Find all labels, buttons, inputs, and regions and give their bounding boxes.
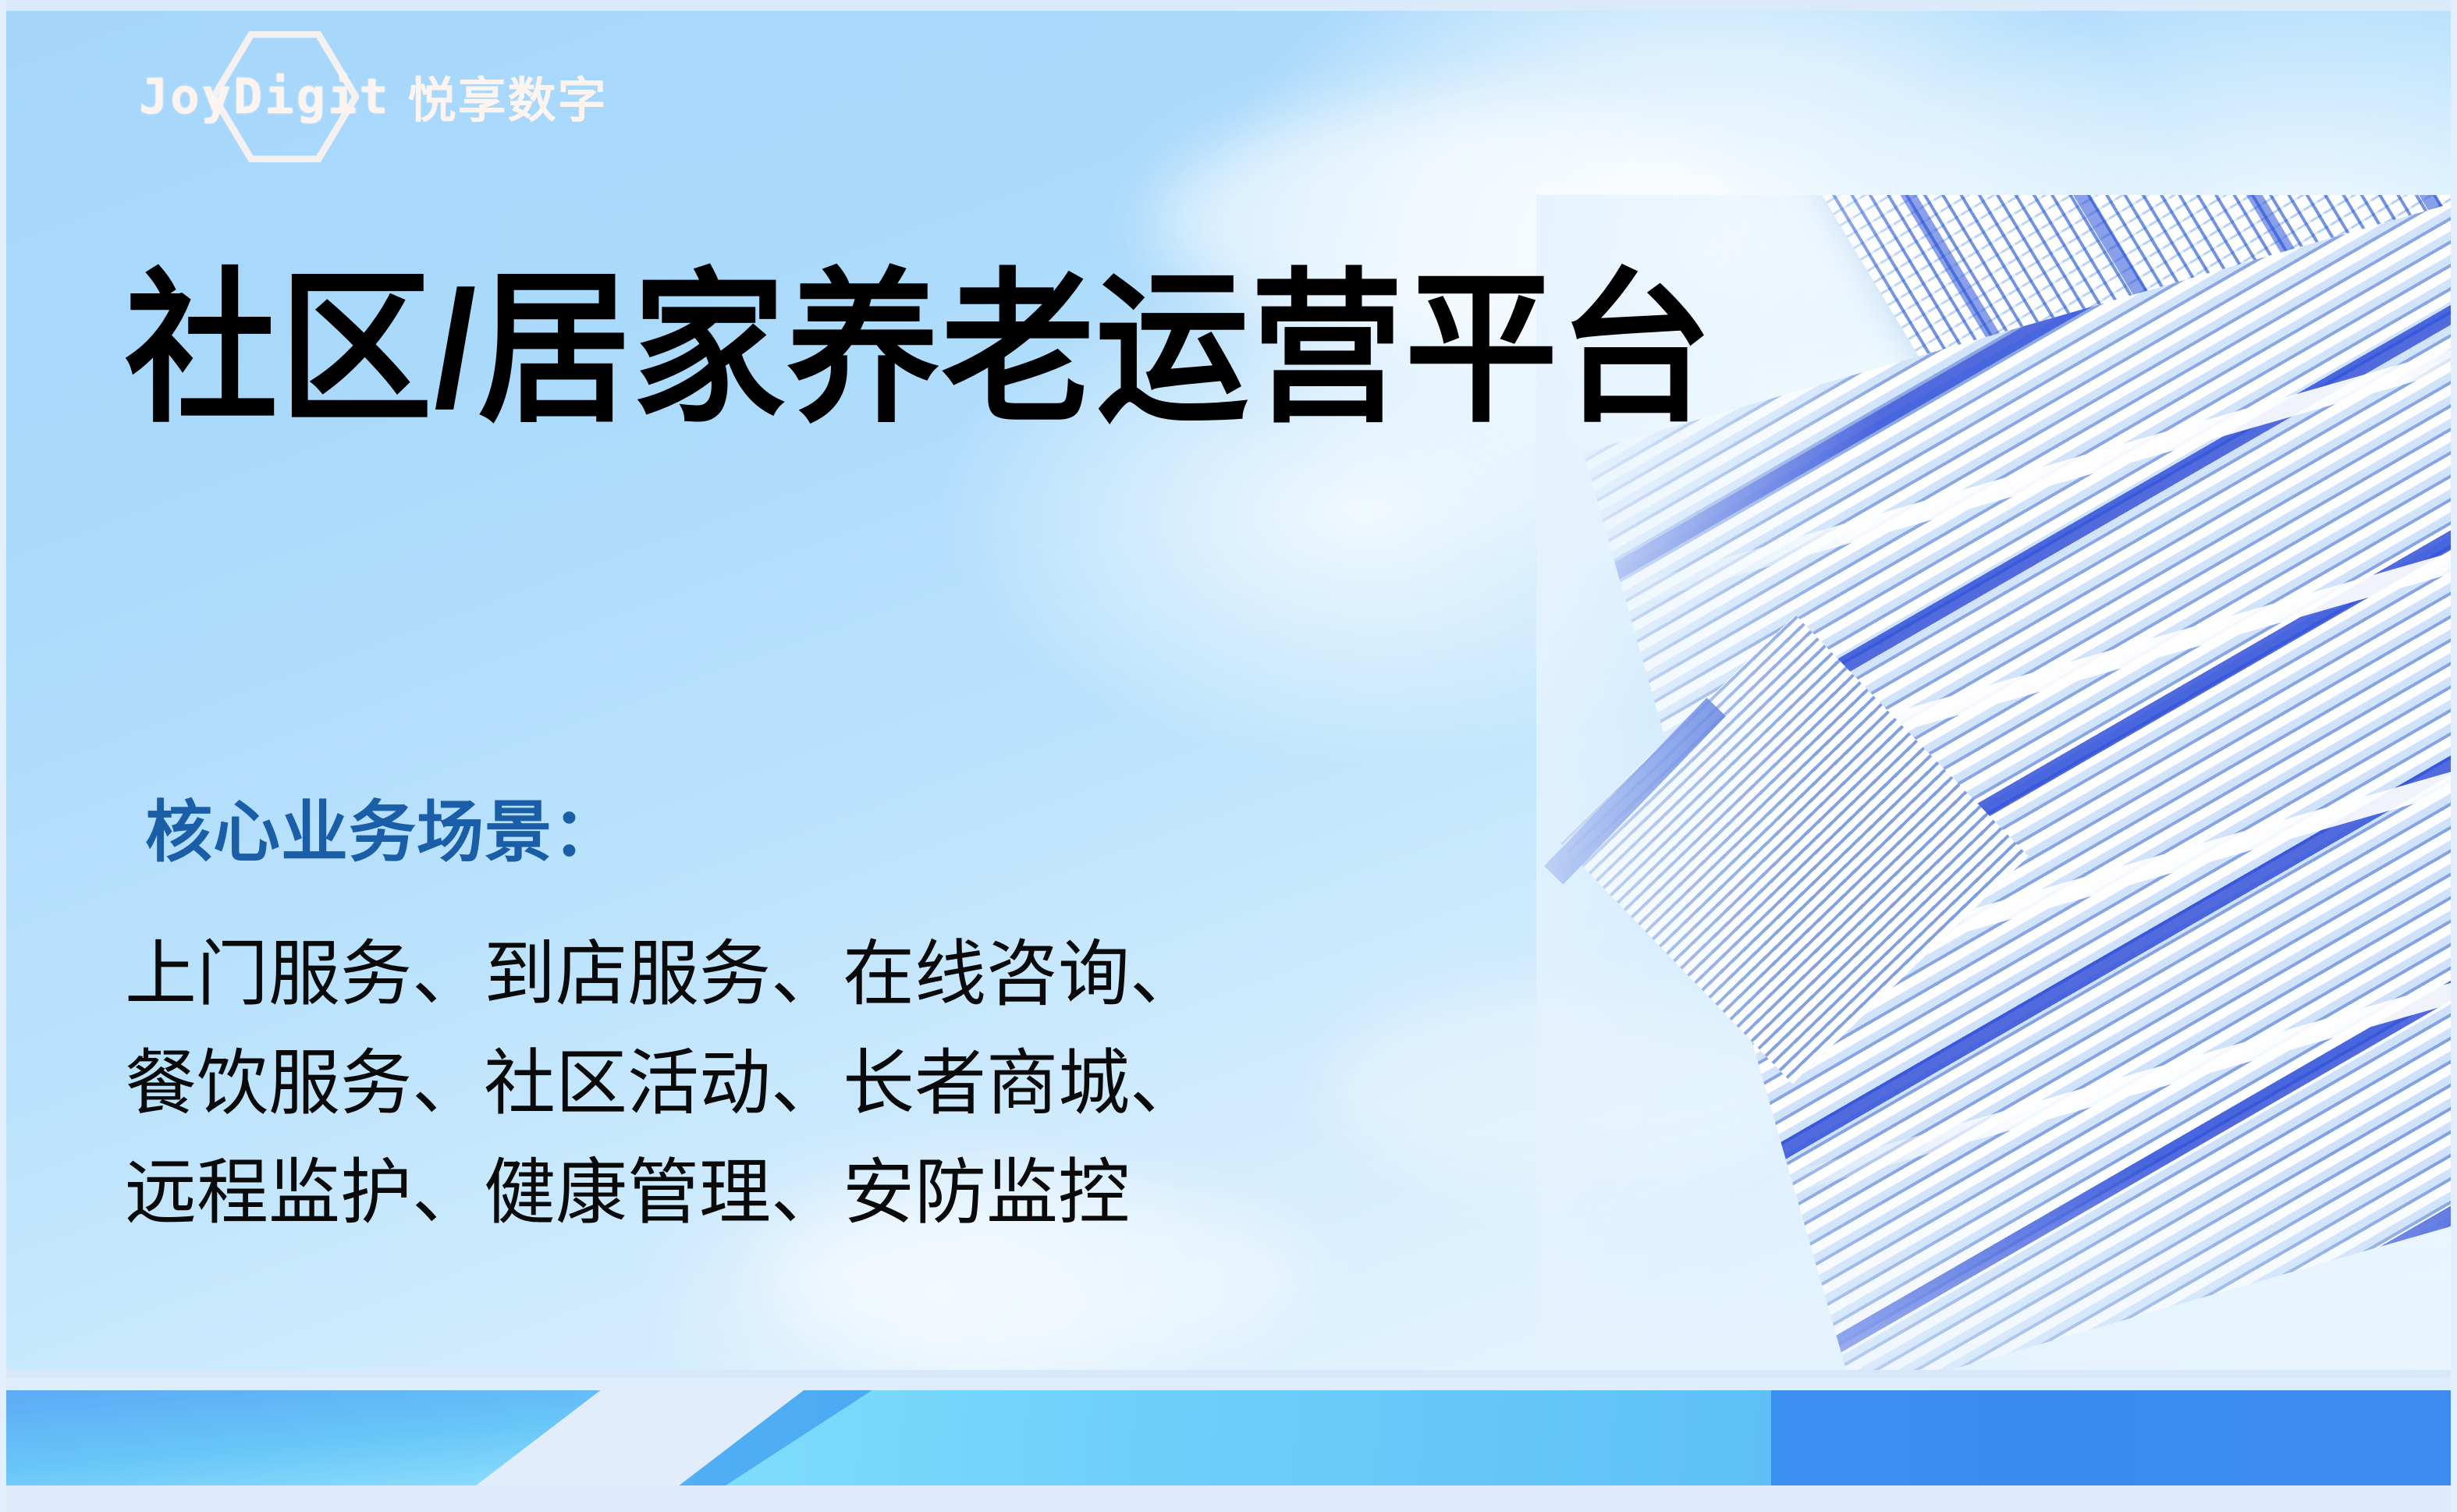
scenario-line: 远程监护、健康管理、安防监控 bbox=[125, 1139, 1202, 1248]
slide-right-edge bbox=[2451, 0, 2457, 1512]
slide-left-edge bbox=[0, 0, 6, 1512]
band-top-edge bbox=[0, 1370, 2457, 1378]
page-title: 社区/居家养老运营平台 bbox=[125, 262, 1713, 437]
scenario-list: 上门服务、到店服务、在线咨询、 餐饮服务、社区活动、长者商城、 远程监护、健康管… bbox=[125, 921, 1202, 1248]
top-edge-strip bbox=[0, 0, 2457, 11]
band-bottom-edge bbox=[0, 1485, 2457, 1512]
logo-chinese-name: 悦享数字 bbox=[408, 61, 608, 131]
bottom-decorative-band bbox=[0, 1370, 2457, 1512]
scenario-line: 餐饮服务、社区活动、长者商城、 bbox=[125, 1030, 1202, 1139]
brand-logo[interactable]: JoyDigit 悦享数字 bbox=[139, 61, 608, 131]
slide-canvas: JoyDigit 悦享数字 社区/居家养老运营平台 核心业务场景： 上门服务、到… bbox=[0, 0, 2457, 1512]
scenario-line: 上门服务、到店服务、在线咨询、 bbox=[125, 921, 1202, 1030]
band-cyan-wedge bbox=[726, 1390, 1771, 1485]
logo-wordmark: JoyDigit bbox=[139, 68, 391, 125]
section-heading: 核心业务场景： bbox=[145, 777, 620, 875]
